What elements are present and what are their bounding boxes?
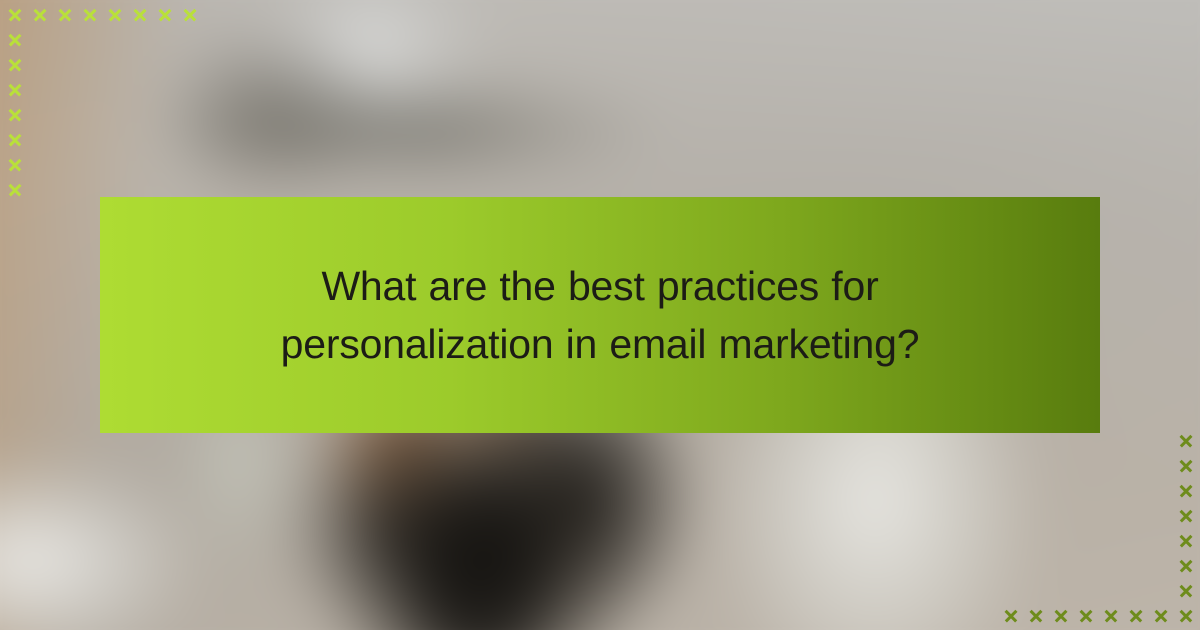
page-title: What are the best practices for personal…: [250, 257, 950, 373]
social-card: What are the best practices for personal…: [0, 0, 1200, 630]
title-banner: What are the best practices for personal…: [100, 197, 1100, 433]
